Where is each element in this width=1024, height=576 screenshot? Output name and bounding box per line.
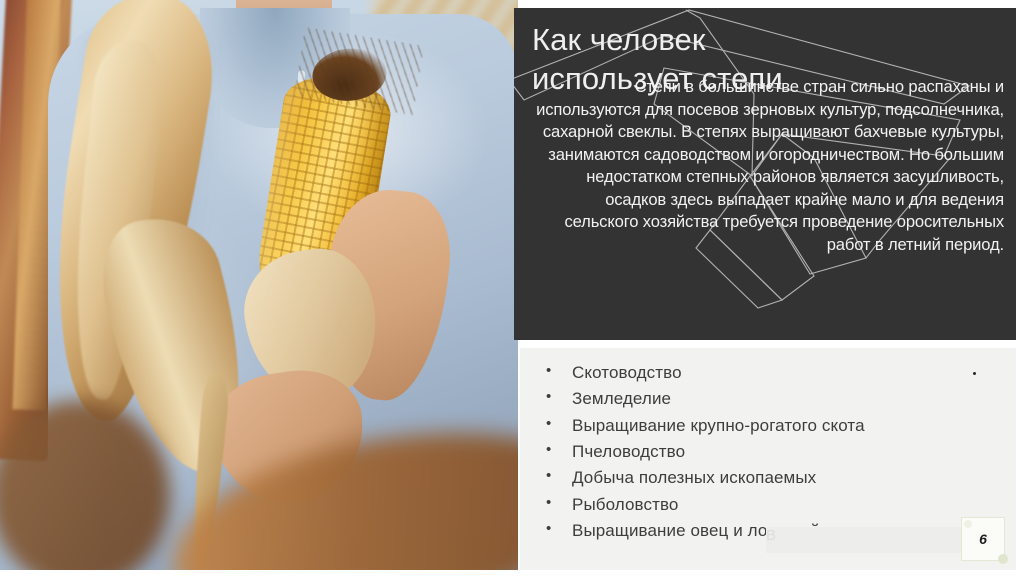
bullet-list: Скотоводство Земледелие Выращивание круп… <box>532 360 992 544</box>
presentation-slide: Как человек использует степи Степи в бол… <box>0 0 1024 576</box>
page-number-badge: 6 <box>961 517 1005 561</box>
slide-photo-corn <box>0 0 518 570</box>
list-item: Рыболовство <box>532 492 992 518</box>
text-panel-dark: Как человек использует степи Степи в бол… <box>514 8 1016 340</box>
list-item: Выращивание крупно-рогатого скота <box>532 413 992 439</box>
page-number: 6 <box>962 518 1004 560</box>
list-item: Скотоводство <box>532 360 992 386</box>
stray-period-mark <box>973 372 976 375</box>
list-item: Добыча полезных ископаемых <box>532 465 992 491</box>
slide-body-paragraph: Степи в большинстве стран сильно распаха… <box>536 76 1004 257</box>
list-item: Земледелие <box>532 386 992 412</box>
list-item: Пчеловодство <box>532 439 992 465</box>
faint-footer-text: В <box>766 527 966 553</box>
